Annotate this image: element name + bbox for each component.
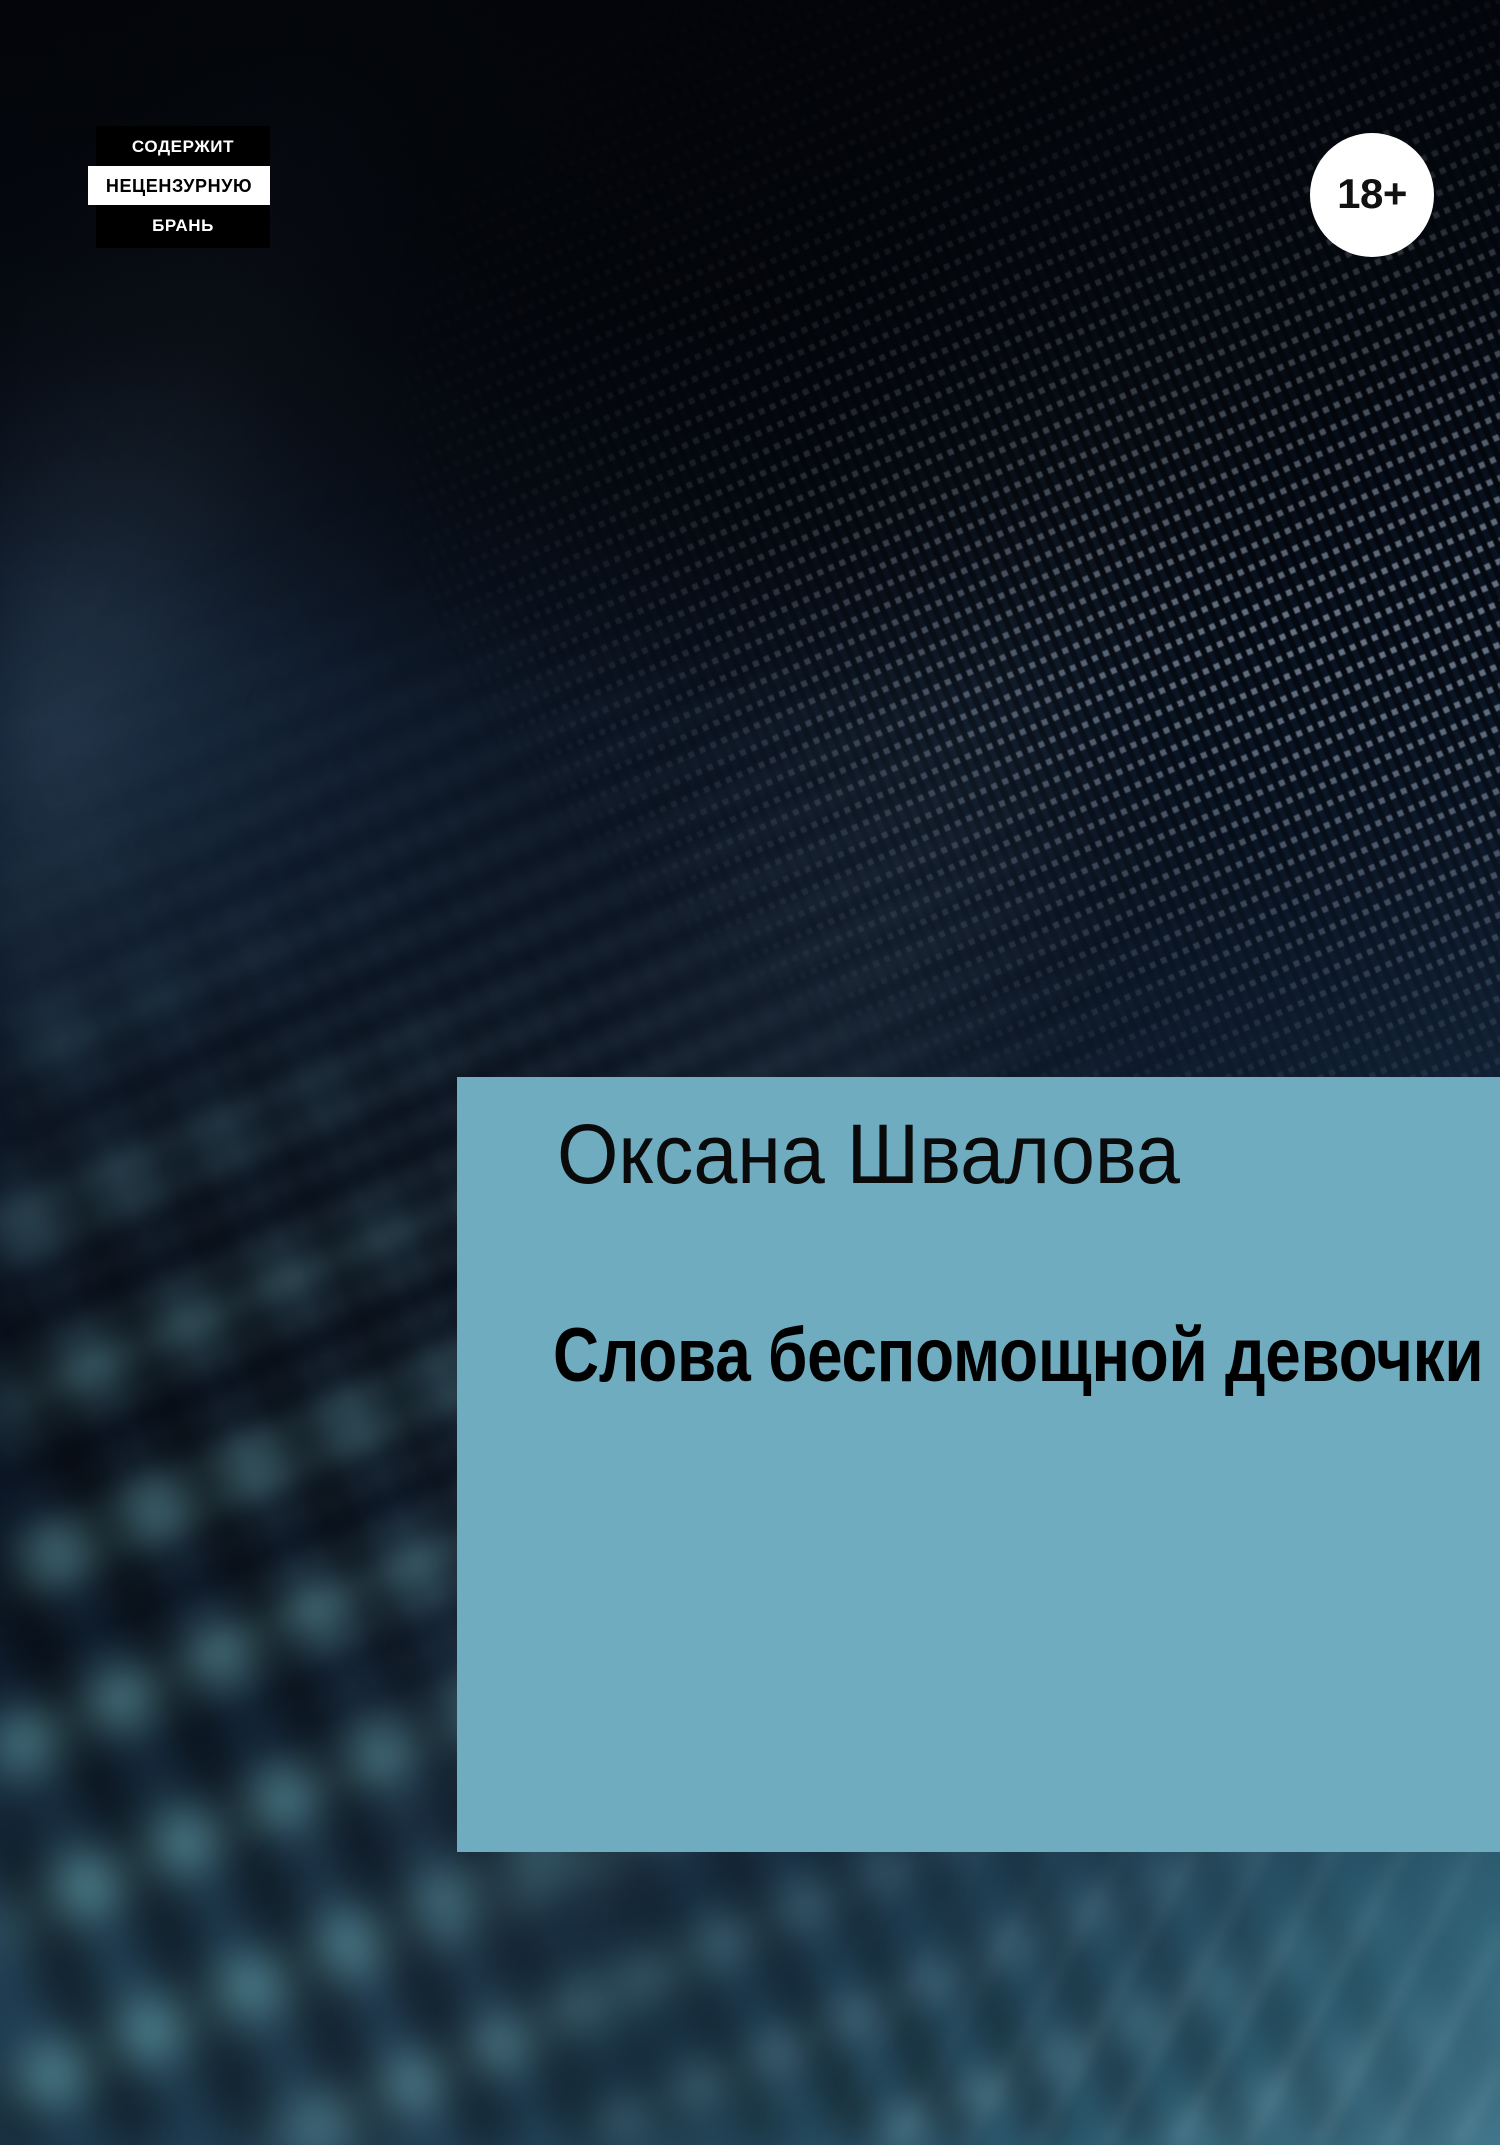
book-cover: СОДЕРЖИТ НЕЦЕНЗУРНУЮ БРАНЬ 18+ Оксана Шв… <box>0 0 1500 2145</box>
content-warning-badge: СОДЕРЖИТ НЕЦЕНЗУРНУЮ БРАНЬ <box>88 126 270 248</box>
content-warning-line-3: БРАНЬ <box>96 205 270 248</box>
age-rating-badge: 18+ <box>1310 133 1434 257</box>
book-title: Слова беспомощной девочки <box>553 1318 1483 1394</box>
content-warning-line-1: СОДЕРЖИТ <box>96 126 270 166</box>
content-warning-line-2: НЕЦЕНЗУРНУЮ <box>88 166 270 205</box>
author-name: Оксана Швалова <box>557 1112 1180 1196</box>
age-rating-label: 18+ <box>1337 173 1407 215</box>
title-panel: Оксана Швалова Слова беспомощной девочки <box>457 1077 1500 1852</box>
